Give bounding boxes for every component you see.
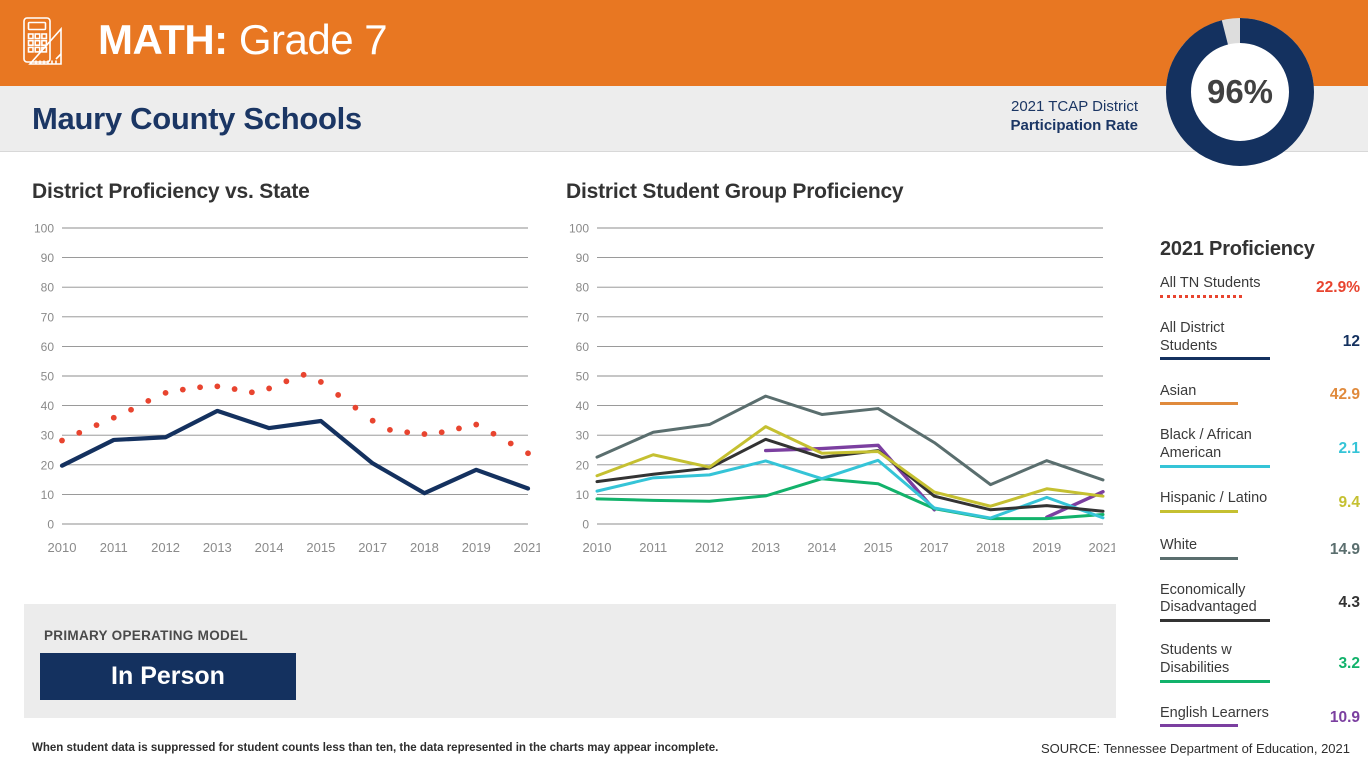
x-axis-tick-label: 2012 (151, 540, 180, 555)
y-axis-tick-label: 80 (576, 281, 590, 295)
y-axis-tick-label: 20 (41, 458, 55, 472)
legend-item-value: 42.9 (1330, 386, 1360, 404)
legend-item-value: 22.9% (1316, 279, 1360, 297)
y-axis-tick-label: 80 (41, 281, 55, 295)
report-page: MATH: Grade 7 Maury County Schools 2021 … (0, 0, 1368, 768)
legend-title: 2021 Proficiency (1160, 238, 1360, 261)
data-point-marker (335, 392, 341, 398)
legend-item-label: Economically Disadvantaged (1160, 582, 1284, 625)
series-line (597, 479, 1103, 519)
legend-color-swatch (1160, 465, 1270, 468)
participation-donut-chart: 96% (1160, 12, 1320, 172)
legend-color-swatch (1160, 724, 1238, 727)
grade-level: Grade 7 (228, 16, 387, 63)
page-title: MATH: Grade 7 (98, 16, 387, 64)
operating-model-value: In Person (40, 653, 296, 700)
x-axis-tick-label: 2013 (203, 540, 232, 555)
data-point-marker (404, 429, 410, 435)
legend-item-value: 2.1 (1338, 440, 1360, 458)
legend-color-swatch (1160, 619, 1270, 622)
x-axis-tick-label: 2017 (920, 540, 949, 555)
x-axis-tick-label: 2011 (100, 540, 128, 555)
legend-item: Asian42.9 (1160, 380, 1360, 410)
x-axis-tick-label: 2014 (255, 540, 284, 555)
y-axis-tick-label: 40 (576, 399, 590, 413)
legend-color-swatch (1160, 510, 1238, 513)
legend-item-label: All District Students (1160, 320, 1284, 363)
y-axis-tick-label: 70 (41, 310, 55, 324)
y-axis-tick-label: 10 (41, 488, 55, 502)
legend-item: English Learners10.9 (1160, 703, 1360, 733)
y-axis-tick-label: 50 (41, 370, 55, 384)
legend-item-label: English Learners (1160, 705, 1269, 731)
legend-item-value: 3.2 (1338, 655, 1360, 673)
series-line (62, 411, 528, 493)
data-point-marker (318, 379, 324, 385)
legend-item: Black / African American2.1 (1160, 427, 1360, 470)
student-group-chart: 0102030405060708090100201020112012201320… (555, 212, 1115, 582)
subject-name: MATH: (98, 16, 228, 63)
participation-rate-label: 2021 TCAP District Participation Rate (1010, 98, 1138, 136)
data-point-marker (214, 383, 220, 389)
legend-item-label: Black / African American (1160, 427, 1284, 470)
y-axis-tick-label: 70 (576, 310, 590, 324)
operating-model-label: PRIMARY OPERATING MODEL (44, 628, 248, 643)
data-point-marker (249, 389, 255, 395)
data-point-marker (525, 450, 531, 456)
y-axis-tick-label: 10 (576, 488, 590, 502)
x-axis-tick-label: 2015 (306, 540, 335, 555)
x-axis-tick-label: 2018 (976, 540, 1005, 555)
y-axis-tick-label: 30 (576, 429, 590, 443)
data-point-marker (422, 431, 428, 437)
legend-color-swatch (1160, 357, 1270, 360)
legend-rows: All TN Students22.9%All District Student… (1160, 273, 1360, 733)
data-point-marker (94, 422, 100, 428)
data-point-marker (197, 384, 203, 390)
x-axis-tick-label: 2012 (695, 540, 724, 555)
x-axis-tick-label: 2010 (48, 540, 77, 555)
y-axis-tick-label: 60 (576, 340, 590, 354)
participation-label-line1: 2021 TCAP District (1010, 98, 1138, 117)
data-point-marker (456, 425, 462, 431)
legend-item-label: Asian (1160, 383, 1238, 409)
footnote-text: When student data is suppressed for stud… (32, 742, 718, 754)
x-axis-tick-label: 2018 (410, 540, 439, 555)
data-point-marker (266, 386, 272, 392)
legend-item-value: 14.9 (1330, 541, 1360, 559)
y-axis-tick-label: 0 (582, 518, 589, 532)
data-point-marker (111, 415, 117, 421)
legend-item: All TN Students22.9% (1160, 273, 1360, 303)
data-point-marker (301, 372, 307, 378)
data-point-marker (128, 407, 134, 413)
y-axis-tick-label: 0 (47, 518, 54, 532)
legend-item: Students w Disabilities3.2 (1160, 642, 1360, 685)
legend-color-swatch (1160, 680, 1270, 683)
legend-color-swatch (1160, 557, 1238, 560)
x-axis-tick-label: 2021 (1089, 540, 1115, 555)
x-axis-tick-label: 2013 (751, 540, 780, 555)
legend-item-value: 10.9 (1330, 709, 1360, 727)
y-axis-tick-label: 50 (576, 370, 590, 384)
data-point-marker (59, 438, 65, 444)
x-axis-tick-label: 2014 (807, 540, 836, 555)
y-axis-tick-label: 100 (34, 222, 54, 236)
y-axis-tick-label: 20 (576, 458, 590, 472)
data-point-marker (387, 427, 393, 433)
legend-item-value: 4.3 (1338, 594, 1360, 612)
y-axis-tick-label: 90 (41, 251, 55, 265)
data-point-marker (163, 390, 169, 396)
y-axis-tick-label: 100 (569, 222, 589, 236)
legend-item-label: White (1160, 537, 1238, 563)
data-point-marker (508, 441, 514, 447)
y-axis-tick-label: 40 (41, 399, 55, 413)
legend-item-value: 12 (1343, 333, 1360, 351)
data-point-marker (370, 418, 376, 424)
chart1-title: District Proficiency vs. State (32, 180, 310, 204)
data-point-marker (145, 398, 151, 404)
legend-item-value: 9.4 (1338, 494, 1360, 512)
legend-item-label: Hispanic / Latino (1160, 490, 1267, 516)
source-text: SOURCE: Tennessee Department of Educatio… (1041, 741, 1350, 756)
x-axis-tick-label: 2021 (514, 540, 540, 555)
proficiency-legend-panel: 2021 Proficiency All TN Students22.9%All… (1160, 238, 1360, 750)
data-point-marker (491, 431, 497, 437)
legend-item: Economically Disadvantaged4.3 (1160, 582, 1360, 625)
legend-item-label: All TN Students (1160, 275, 1260, 301)
calculator-ruler-icon (14, 12, 76, 74)
y-axis-tick-label: 60 (41, 340, 55, 354)
legend-item-label: Students w Disabilities (1160, 642, 1284, 685)
participation-label-line2: Participation Rate (1010, 117, 1138, 136)
district-name: Maury County Schools (32, 101, 362, 137)
legend-item: Hispanic / Latino9.4 (1160, 488, 1360, 518)
y-axis-tick-label: 90 (576, 251, 590, 265)
data-point-marker (353, 405, 359, 411)
legend-item: White14.9 (1160, 535, 1360, 565)
x-axis-tick-label: 2017 (358, 540, 387, 555)
legend-color-swatch (1160, 402, 1238, 405)
y-axis-tick-label: 30 (41, 429, 55, 443)
x-axis-tick-label: 2010 (583, 540, 612, 555)
x-axis-tick-label: 2019 (1032, 540, 1061, 555)
data-point-marker (76, 430, 82, 436)
data-point-marker (232, 386, 238, 392)
chart2-title: District Student Group Proficiency (566, 180, 903, 204)
district-vs-state-chart: 0102030405060708090100201020112012201320… (20, 212, 540, 582)
data-point-marker (283, 378, 289, 384)
data-point-marker (439, 429, 445, 435)
data-point-marker (180, 387, 186, 393)
legend-item: All District Students12 (1160, 320, 1360, 363)
x-axis-tick-label: 2011 (639, 540, 667, 555)
data-point-marker (473, 422, 479, 428)
legend-color-swatch (1160, 295, 1242, 298)
x-axis-tick-label: 2015 (864, 540, 893, 555)
x-axis-tick-label: 2019 (462, 540, 491, 555)
